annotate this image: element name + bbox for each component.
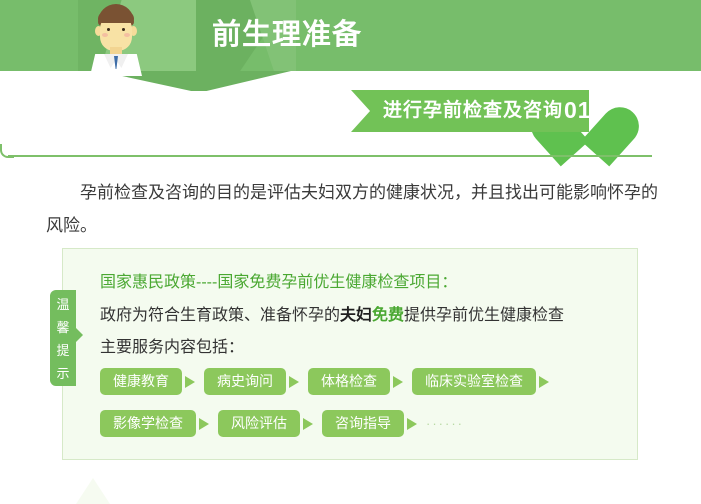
service-chip-row-1: 健康教育 病史询问 体格检查 临床实验室检查: [100, 368, 558, 395]
tips-line2-part1: 政府为符合生育政策、准备怀孕的: [100, 307, 340, 324]
section-divider-rule: [0, 144, 652, 158]
service-chip[interactable]: 临床实验室检查: [412, 368, 536, 395]
page-title: 前生理准备: [212, 17, 362, 53]
next-section-hint: [76, 478, 110, 504]
service-chip[interactable]: 体格检查: [308, 368, 390, 395]
service-chip[interactable]: 影像学检查: [100, 410, 196, 437]
avatar-blush-left: [102, 33, 108, 37]
tips-tab-char-3: 示: [50, 362, 76, 385]
tips-line-3: 主要服务内容包括：: [100, 335, 244, 361]
tips-tab-char-2: 提: [50, 339, 76, 362]
section-badge: 进行孕前检查及咨询 01: [351, 83, 649, 139]
tips-line2-bold-dark: 夫妇: [340, 307, 372, 324]
tips-vertical-tab: 温 馨 提 示: [50, 290, 76, 386]
tips-line2-bold-green: 免费: [372, 307, 404, 324]
tips-line-2: 政府为符合生育政策、准备怀孕的夫妇免费提供孕前优生健康检查: [100, 303, 564, 329]
tips-line2-part2: 提供孕前优生健康检查: [404, 307, 564, 324]
section-badge-number: 01: [564, 96, 592, 124]
avatar-fringe: [98, 11, 134, 23]
service-chip[interactable]: 健康教育: [100, 368, 182, 395]
section-badge-label: 进行孕前检查及咨询: [383, 97, 563, 125]
avatar-eye-right: [122, 28, 125, 31]
tips-tab-char-0: 温: [50, 293, 76, 316]
body-paragraph: 孕前检查及咨询的目的是评估夫妇双方的健康状况，并且找出可能影响怀孕的风险。: [46, 176, 666, 242]
doctor-avatar-icon: [86, 4, 146, 70]
service-chip-row-2: 影像学检查 风险评估 咨询指导 ······: [100, 410, 464, 437]
page-header: 前生理准备: [0, 0, 701, 92]
tips-heading: 国家惠民政策----国家免费孕前优生健康检查项目：: [100, 270, 457, 296]
tips-tab-char-1: 馨: [50, 316, 76, 339]
divider-line: [8, 155, 652, 157]
service-chip[interactable]: 风险评估: [218, 410, 300, 437]
service-chip[interactable]: 咨询指导: [322, 410, 404, 437]
avatar-eye-left: [107, 28, 110, 31]
service-chip[interactable]: 病史询问: [204, 368, 286, 395]
service-chip-ellipsis: ······: [426, 410, 464, 437]
avatar-blush-right: [124, 33, 130, 37]
